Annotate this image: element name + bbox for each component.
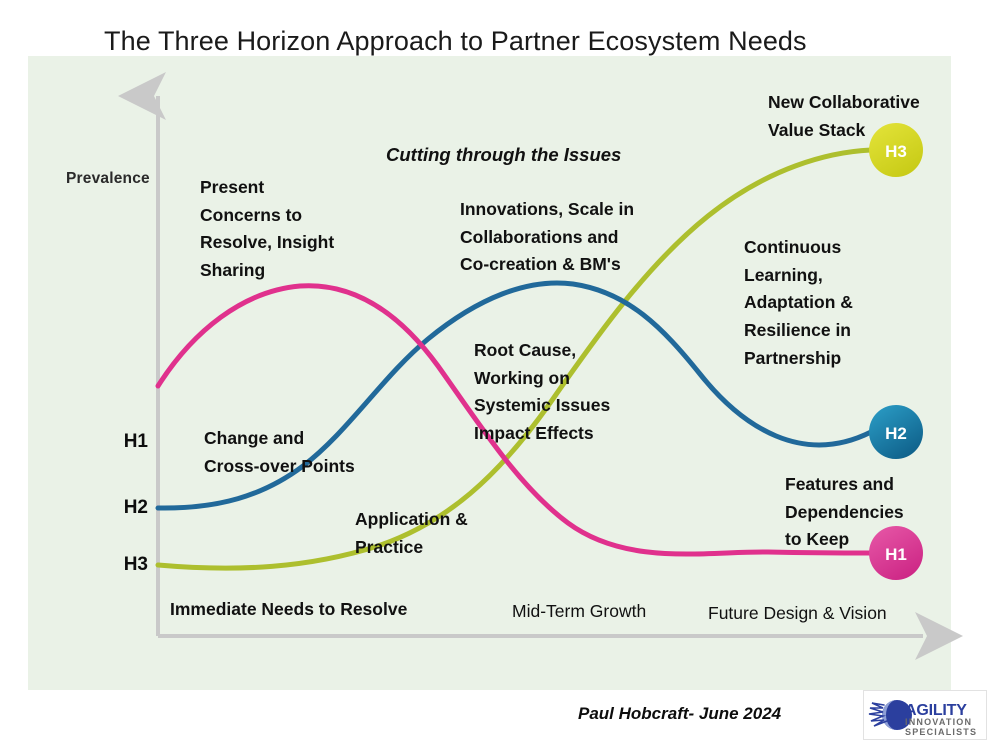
slide-canvas: The Three Horizon Approach to Partner Ec… [0,0,1003,745]
annotation-new-collaborative-value-stack: New Collaborative Value Stack [768,89,973,144]
headline-text: Cutting through the Issues [386,144,621,166]
bubble-h2[interactable]: H2 [869,405,923,459]
page-title: The Three Horizon Approach to Partner Ec… [104,26,807,57]
chart-panel: H3 H2 H1 Prevalence Time H1 H2 H3 Cuttin… [28,56,951,690]
y-tick-h2: H2 [104,497,148,519]
time-band-midterm: Mid-Term Growth [512,601,646,622]
y-tick-h3: H3 [104,554,148,576]
bubble-h2-label: H2 [885,424,907,443]
agility-logo: AGILITY INNOVATION SPECIALISTS [863,690,987,740]
annotation-present-concerns: Present Concerns to Resolve, Insight Sha… [200,174,400,285]
annotation-root-cause: Root Cause, Working on Systemic Issues I… [474,337,669,448]
annotation-application-practice: Application & Practice [355,506,515,561]
annotation-continuous-learning: Continuous Learning, Adaptation & Resili… [744,234,924,372]
time-band-future: Future Design & Vision [708,603,887,624]
annotation-innovations: Innovations, Scale in Collaborations and… [460,196,700,279]
time-band-immediate: Immediate Needs to Resolve [170,599,407,620]
author-credit: Paul Hobcraft- June 2024 [578,704,781,724]
annotation-change-crossover: Change and Cross-over Points [204,425,404,480]
annotation-features-dependencies: Features and Dependencies to Keep [785,471,945,554]
y-axis-label: Prevalence [66,170,150,188]
y-tick-h1: H1 [104,431,148,453]
logo-secondary-text: INNOVATION [905,717,972,727]
bubble-h3-label: H3 [885,142,907,161]
logo-tertiary-text: SPECIALISTS [905,727,977,737]
